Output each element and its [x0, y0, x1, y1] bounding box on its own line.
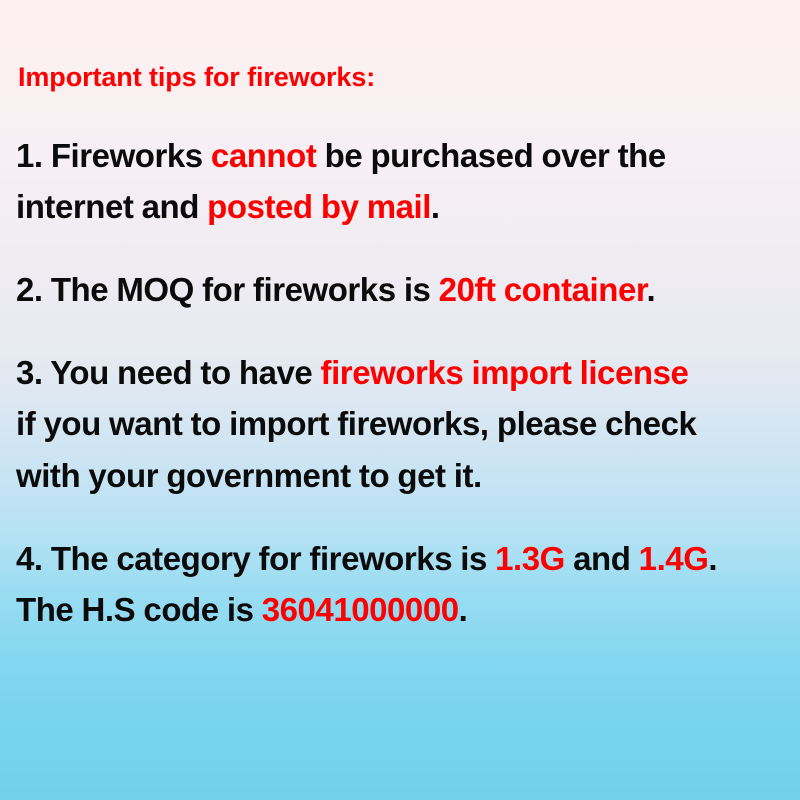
tip-4-highlight-hs-code: 36041000000 [262, 591, 459, 628]
tip-item-2: 2. The MOQ for fireworks is 20ft contain… [16, 264, 784, 315]
tip-item-4: 4. The category for fireworks is 1.3G an… [16, 533, 784, 635]
tip-4-highlight-category-14g: 1.4G [639, 540, 709, 577]
tip-item-3: 3. You need to have fireworks import lic… [16, 347, 784, 500]
tip-2-line-1: 2. The MOQ for fireworks is 20ft contain… [16, 264, 784, 315]
poster-content: Important tips for fireworks: 1. Firewor… [16, 62, 784, 635]
tip-4-line-2: The H.S code is 36041000000. [16, 584, 784, 635]
tip-4-number: 4. [16, 540, 43, 577]
tip-3-highlight-import-license: fireworks import license [321, 354, 689, 391]
tip-item-1: 1. Fireworks cannot be purchased over th… [16, 130, 784, 232]
tip-1-highlight-posted-by-mail: posted by mail [207, 188, 431, 225]
tip-2-text-b: . [646, 271, 655, 308]
tip-1-text-c: internet and [16, 188, 207, 225]
tip-2-number: 2. [16, 271, 43, 308]
tip-3-number: 3. [16, 354, 43, 391]
tip-1-line-2: internet and posted by mail. [16, 181, 784, 232]
tip-3-text-a: You need to have [43, 354, 321, 391]
tip-1-text-a: Fireworks [43, 137, 211, 174]
tip-4-text-a: The category for fireworks is [43, 540, 496, 577]
tip-3-line-2: if you want to import fireworks, please … [16, 398, 784, 449]
tip-2-highlight-moq: 20ft container [439, 271, 647, 308]
fireworks-tips-poster: Important tips for fireworks: 1. Firewor… [0, 0, 800, 800]
tip-4-line-1: 4. The category for fireworks is 1.3G an… [16, 533, 784, 584]
page-title: Important tips for fireworks: [18, 62, 784, 94]
tip-1-number: 1. [16, 137, 43, 174]
tip-1-text-d: . [431, 188, 440, 225]
tip-4-text-d: The H.S code is [16, 591, 262, 628]
tip-4-text-b: and [565, 540, 639, 577]
tip-4-highlight-category-13g: 1.3G [495, 540, 565, 577]
tip-3-line-3: with your government to get it. [16, 450, 784, 501]
tip-4-text-e: . [459, 591, 468, 628]
tip-2-text-a: The MOQ for fireworks is [43, 271, 439, 308]
tip-1-line-1: 1. Fireworks cannot be purchased over th… [16, 130, 784, 181]
tip-1-text-b: be purchased over the [316, 137, 665, 174]
tip-1-highlight-cannot: cannot [211, 137, 316, 174]
tip-4-text-c: . [708, 540, 717, 577]
tip-3-line-1: 3. You need to have fireworks import lic… [16, 347, 784, 398]
